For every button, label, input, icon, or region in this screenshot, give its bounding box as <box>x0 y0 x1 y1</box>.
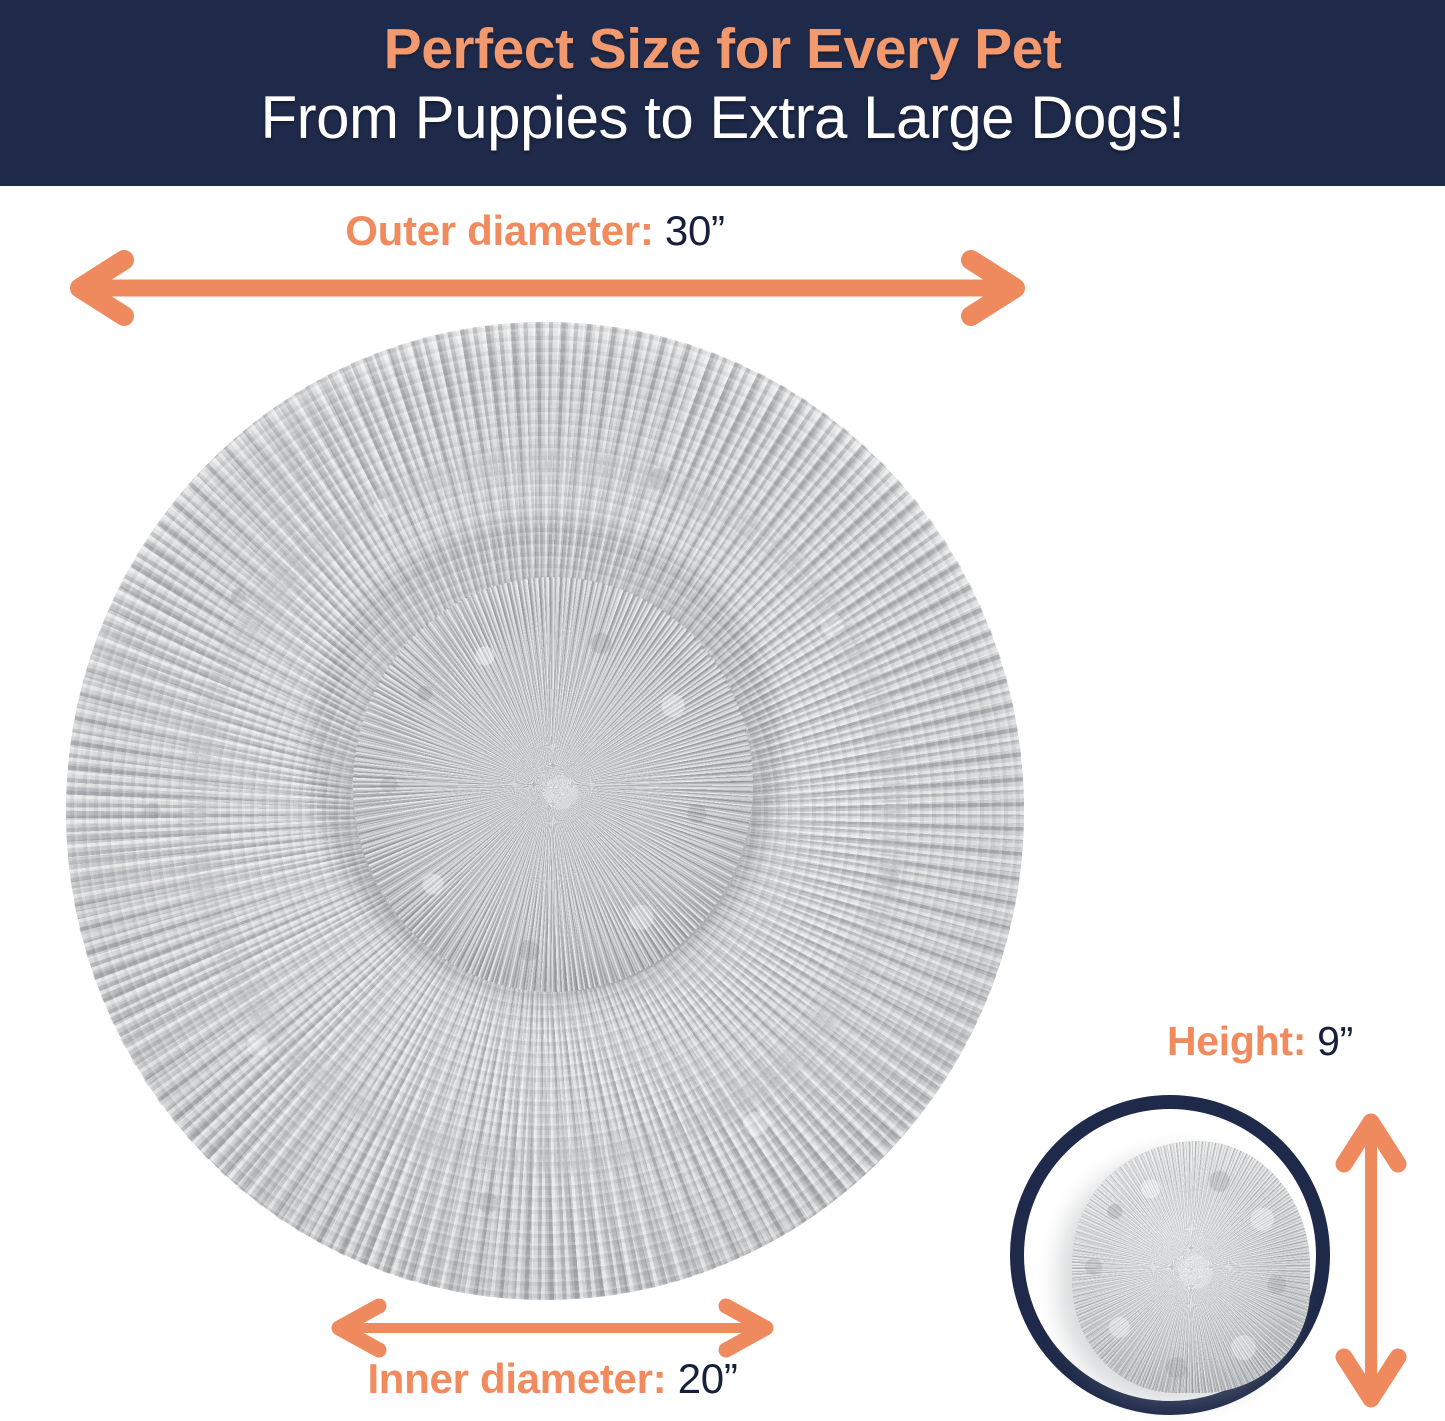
outer-diameter-arrow-icon <box>60 252 1035 324</box>
outer-diameter-label-value: 30” <box>665 207 725 254</box>
pet-bed-top-view <box>66 322 1024 1300</box>
outer-diameter-label: Outer diameter: 30” <box>0 207 1070 255</box>
outer-diameter-label-name: Outer diameter: <box>345 207 653 254</box>
pet-bed-outer-ring <box>66 322 1024 1300</box>
inner-fur-texture-layer-a <box>353 577 753 992</box>
banner-headline: Perfect Size for Every Pet <box>0 18 1445 81</box>
height-label: Height: 9” <box>1075 1018 1445 1065</box>
inner-diameter-label: Inner diameter: 20” <box>265 1355 840 1403</box>
pet-bed-inner-cushion <box>353 577 753 992</box>
header-banner: Perfect Size for Every Pet From Puppies … <box>0 0 1445 186</box>
height-label-name: Height: <box>1167 1018 1306 1064</box>
inner-diameter-arrow-icon <box>325 1300 780 1356</box>
inner-diameter-label-name: Inner diameter: <box>367 1355 666 1402</box>
banner-subheadline: From Puppies to Extra Large Dogs! <box>0 85 1445 151</box>
pet-bed-side-pillow <box>1072 1141 1310 1393</box>
inset-fur-texture-layer-b <box>1072 1141 1310 1393</box>
height-arrow-icon <box>1330 1108 1412 1413</box>
inset-fur-speckles <box>1072 1141 1310 1393</box>
inner-fur-texture-layer-b <box>329 554 777 1015</box>
inset-fur-texture-layer-a <box>1072 1141 1310 1393</box>
inner-diameter-label-value: 20” <box>678 1355 738 1402</box>
pet-bed-side-view-inset <box>1010 1095 1330 1415</box>
height-label-value: 9” <box>1317 1018 1353 1064</box>
inner-fur-speckles <box>353 577 753 992</box>
infographic-page: Perfect Size for Every Pet From Puppies … <box>0 0 1445 1421</box>
